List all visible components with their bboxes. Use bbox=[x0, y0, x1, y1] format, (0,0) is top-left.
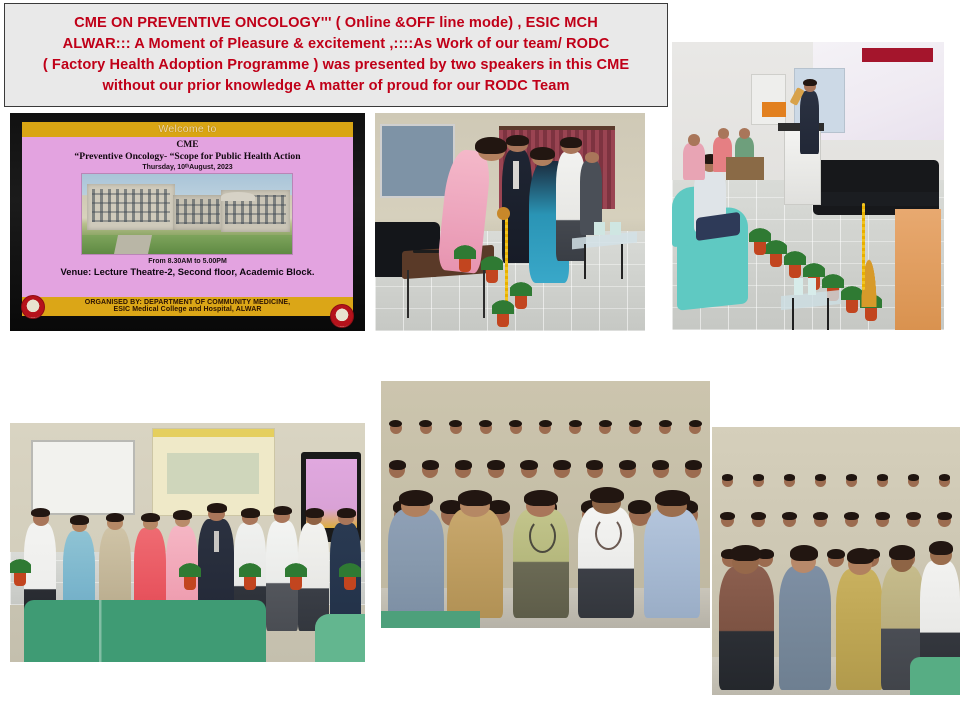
speaker-at-podium-photo bbox=[672, 42, 944, 330]
slide-hospital-image bbox=[82, 174, 292, 254]
audience2-row-back bbox=[712, 448, 960, 486]
audience-row-back bbox=[381, 393, 710, 433]
slide-cme-label: CME bbox=[176, 140, 198, 150]
cme-welcome-slide-photo: Welcome to CME “Preventive Oncology- “Sc… bbox=[10, 113, 365, 331]
slide-welcome-text: Welcome to bbox=[22, 122, 352, 138]
tv-screen: Welcome to CME “Preventive Oncology- “Sc… bbox=[22, 122, 352, 316]
audience-wide-photo bbox=[712, 427, 960, 695]
podium-scene bbox=[672, 42, 944, 330]
audience-scene-1 bbox=[381, 381, 710, 628]
esic-emblem-left-icon bbox=[21, 295, 45, 319]
esic-emblem-right-icon bbox=[330, 304, 354, 328]
faculty-group-photo bbox=[10, 423, 365, 662]
slide-time: From 8.30AM to 5.00PM bbox=[148, 258, 227, 265]
banner-line-3: ( Factory Health Adoption Programme ) wa… bbox=[43, 55, 629, 76]
slide-footer: ORGANISED BY: DEPARTMENT OF COMMUNITY ME… bbox=[22, 297, 352, 316]
lamp-scene bbox=[375, 113, 645, 331]
group-scene bbox=[10, 423, 365, 662]
slide-venue: Venue: Lecture Theatre-2, Second floor, … bbox=[61, 266, 315, 277]
lamp-lighting-ceremony-photo bbox=[375, 113, 645, 331]
slide-body: CME “Preventive Oncology- “Scope for Pub… bbox=[22, 137, 352, 297]
banner-line-2: ALWAR::: A Moment of Pleasure & exciteme… bbox=[63, 34, 610, 55]
slide-organised-by-line-1: ORGANISED BY: DEPARTMENT OF COMMUNITY ME… bbox=[22, 299, 352, 306]
title-banner: CME ON PREVENTIVE ONCOLOGY''' ( Online &… bbox=[4, 3, 668, 107]
audience-seated-photo bbox=[381, 381, 710, 628]
banner-line-4: without our prior knowledge A matter of … bbox=[102, 76, 569, 97]
banner-line-1: CME ON PREVENTIVE ONCOLOGY''' ( Online &… bbox=[74, 13, 598, 34]
audience-scene-2 bbox=[712, 427, 960, 695]
slide-organised-by-line-2: ESIC Medical College and Hospital, ALWAR bbox=[22, 306, 352, 313]
slide-date: Thursday, 10ᵗʰAugust, 2023 bbox=[142, 164, 232, 171]
slide-title: “Preventive Oncology- “Scope for Public … bbox=[74, 151, 300, 162]
